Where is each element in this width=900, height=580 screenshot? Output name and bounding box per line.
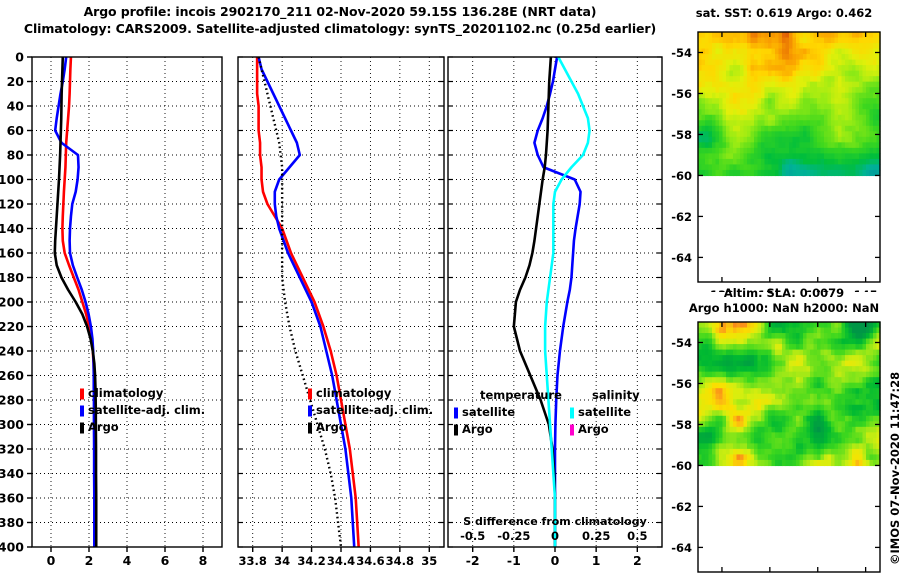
map-cell bbox=[873, 361, 877, 367]
map-cell bbox=[737, 454, 741, 460]
map-cell bbox=[817, 131, 821, 137]
map-cell bbox=[838, 361, 842, 367]
map-cell bbox=[814, 361, 818, 367]
map-cell bbox=[838, 432, 842, 438]
map-cell bbox=[828, 87, 832, 93]
map-cell bbox=[789, 460, 793, 466]
map-cell bbox=[845, 460, 849, 466]
map-cell bbox=[870, 383, 874, 389]
map-cell bbox=[730, 350, 734, 356]
map-cell bbox=[754, 372, 758, 378]
map-cell bbox=[838, 43, 842, 49]
map-cell bbox=[870, 120, 874, 126]
map-cell bbox=[712, 93, 716, 99]
map-cell bbox=[810, 164, 814, 170]
map-cell bbox=[803, 328, 807, 334]
map-cell bbox=[712, 443, 716, 449]
map-cell bbox=[831, 71, 835, 77]
map-cell bbox=[859, 71, 863, 77]
map-cell bbox=[842, 115, 846, 121]
map-cell bbox=[863, 104, 867, 110]
map-cell bbox=[859, 383, 863, 389]
map-cell bbox=[779, 115, 783, 121]
map-cell bbox=[849, 366, 853, 372]
map-cell bbox=[740, 333, 744, 339]
map-cell bbox=[709, 454, 713, 460]
map-cell bbox=[740, 137, 744, 143]
map-cell bbox=[754, 49, 758, 55]
map-cell bbox=[726, 432, 730, 438]
legend-label: Argo bbox=[462, 422, 493, 436]
xtick-label: 4 bbox=[123, 553, 132, 568]
map-cell bbox=[810, 344, 814, 350]
map-cell bbox=[765, 164, 769, 170]
map-cell bbox=[828, 126, 832, 132]
map-cell bbox=[772, 454, 776, 460]
map-cell bbox=[856, 98, 860, 104]
map-cell bbox=[828, 104, 832, 110]
map-cell bbox=[747, 137, 751, 143]
map-cell bbox=[856, 421, 860, 427]
map-cell bbox=[873, 60, 877, 66]
map-cell bbox=[782, 344, 786, 350]
map-cell bbox=[824, 115, 828, 121]
map-cell bbox=[754, 170, 758, 176]
map-cell bbox=[733, 131, 737, 137]
map-cell bbox=[772, 131, 776, 137]
map-cell bbox=[810, 43, 814, 49]
map-cell bbox=[793, 49, 797, 55]
map-cell bbox=[835, 416, 839, 422]
map-cell bbox=[824, 460, 828, 466]
map-cell bbox=[716, 377, 720, 383]
map-cell bbox=[716, 159, 720, 165]
map-cell bbox=[705, 383, 709, 389]
map-cell bbox=[852, 322, 856, 328]
map-cell bbox=[772, 38, 776, 44]
map-cell bbox=[702, 350, 706, 356]
map-cell bbox=[726, 148, 730, 154]
map-cell bbox=[873, 377, 877, 383]
map-cell bbox=[866, 38, 870, 44]
map-cell bbox=[817, 170, 821, 176]
map-cell bbox=[807, 394, 811, 400]
map-cell bbox=[835, 93, 839, 99]
map-cell bbox=[838, 427, 842, 433]
map-cell bbox=[705, 98, 709, 104]
map-cell bbox=[810, 394, 814, 400]
map-cell bbox=[772, 410, 776, 416]
map-cell bbox=[817, 49, 821, 55]
map-cell bbox=[814, 71, 818, 77]
map-cell bbox=[744, 339, 748, 345]
map-cell bbox=[845, 126, 849, 132]
map-cell bbox=[793, 388, 797, 394]
map-cell bbox=[845, 438, 849, 444]
map-cell bbox=[814, 405, 818, 411]
map-cell bbox=[800, 115, 804, 121]
map-cell bbox=[821, 432, 825, 438]
map-cell bbox=[803, 438, 807, 444]
map-cell bbox=[789, 137, 793, 143]
map-cell bbox=[835, 142, 839, 148]
map-cell bbox=[768, 87, 772, 93]
map-cell bbox=[772, 339, 776, 345]
map-cell bbox=[702, 87, 706, 93]
map-cell bbox=[845, 372, 849, 378]
map-cell bbox=[779, 449, 783, 455]
map-cell bbox=[712, 339, 716, 345]
map-cell bbox=[835, 76, 839, 82]
map-cell bbox=[709, 443, 713, 449]
map-cell bbox=[761, 344, 765, 350]
map-cell bbox=[831, 126, 835, 132]
map-cell bbox=[821, 54, 825, 60]
map-cell bbox=[835, 372, 839, 378]
map-cell bbox=[702, 333, 706, 339]
map-cell bbox=[723, 410, 727, 416]
map-cell bbox=[793, 383, 797, 389]
map-cell bbox=[821, 87, 825, 93]
map-cell bbox=[702, 98, 706, 104]
map-cell bbox=[856, 350, 860, 356]
map-cell bbox=[821, 416, 825, 422]
map-cell bbox=[828, 399, 832, 405]
map-cell bbox=[786, 153, 790, 159]
map-cell bbox=[849, 76, 853, 82]
map-cell bbox=[828, 120, 832, 126]
map-cell bbox=[803, 126, 807, 132]
map-cell bbox=[831, 49, 835, 55]
map-cell bbox=[765, 76, 769, 82]
map-cell bbox=[779, 333, 783, 339]
map-cell bbox=[849, 170, 853, 176]
map-cell bbox=[873, 164, 877, 170]
map-cell bbox=[786, 115, 790, 121]
map-cell bbox=[744, 159, 748, 165]
map-cell bbox=[810, 454, 814, 460]
map-cell bbox=[733, 438, 737, 444]
map-cell bbox=[845, 120, 849, 126]
map-cell bbox=[775, 454, 779, 460]
map-cell bbox=[842, 131, 846, 137]
map-ytick-label: -54 bbox=[671, 46, 692, 60]
map-cell bbox=[712, 164, 716, 170]
map-cell bbox=[765, 322, 769, 328]
map-cell bbox=[810, 350, 814, 356]
map-cell bbox=[782, 427, 786, 433]
map-cell bbox=[845, 366, 849, 372]
map-cell bbox=[817, 38, 821, 44]
map-cell bbox=[712, 410, 716, 416]
map-cell bbox=[852, 32, 856, 38]
map-cell bbox=[716, 153, 720, 159]
map-cell bbox=[849, 372, 853, 378]
map-cell bbox=[733, 49, 737, 55]
map-cell bbox=[831, 410, 835, 416]
map-cell bbox=[793, 460, 797, 466]
ytick-label: 380 bbox=[0, 515, 24, 530]
map-cell bbox=[730, 432, 734, 438]
map-cell bbox=[817, 421, 821, 427]
map-cell bbox=[733, 38, 737, 44]
map-cell bbox=[744, 93, 748, 99]
map-cell bbox=[733, 410, 737, 416]
map-cell bbox=[726, 109, 730, 115]
map-cell bbox=[863, 170, 867, 176]
map-cell bbox=[716, 76, 720, 82]
map-cell bbox=[782, 76, 786, 82]
map-cell bbox=[796, 38, 800, 44]
map-cell bbox=[744, 388, 748, 394]
map-cell bbox=[772, 350, 776, 356]
map-cell bbox=[761, 366, 765, 372]
map-cell bbox=[807, 355, 811, 361]
map-cell bbox=[859, 361, 863, 367]
map-cell bbox=[747, 372, 751, 378]
map-cell bbox=[859, 38, 863, 44]
map-cell bbox=[775, 170, 779, 176]
map-cell bbox=[702, 339, 706, 345]
map-cell bbox=[772, 137, 776, 143]
map-cell bbox=[761, 126, 765, 132]
map-cell bbox=[719, 43, 723, 49]
map-cell bbox=[835, 170, 839, 176]
map-cell bbox=[740, 399, 744, 405]
map-cell bbox=[849, 32, 853, 38]
map-cell bbox=[733, 142, 737, 148]
map-cell bbox=[831, 137, 835, 143]
map-cell bbox=[838, 366, 842, 372]
map-cell bbox=[859, 322, 863, 328]
map-cell bbox=[849, 355, 853, 361]
map-cell bbox=[870, 366, 874, 372]
map-cell bbox=[845, 350, 849, 356]
map-cell bbox=[779, 328, 783, 334]
map-cell bbox=[740, 120, 744, 126]
map-cell bbox=[772, 65, 776, 71]
map-cell bbox=[814, 148, 818, 154]
map-cell bbox=[786, 71, 790, 77]
map-cell bbox=[803, 43, 807, 49]
xtick-label: -2 bbox=[466, 553, 480, 568]
map-cell bbox=[800, 137, 804, 143]
map-cell bbox=[761, 394, 765, 400]
map-cell bbox=[775, 76, 779, 82]
map-cell bbox=[754, 399, 758, 405]
map-cell bbox=[866, 460, 870, 466]
map-cell bbox=[793, 344, 797, 350]
map-cell bbox=[793, 399, 797, 405]
map-cell bbox=[712, 38, 716, 44]
map-cell bbox=[719, 54, 723, 60]
map-cell bbox=[796, 427, 800, 433]
map-cell bbox=[747, 449, 751, 455]
map-cell bbox=[838, 383, 842, 389]
map-cell bbox=[705, 65, 709, 71]
map-cell bbox=[803, 460, 807, 466]
xtick-label: 34.4 bbox=[327, 554, 355, 568]
map-cell bbox=[814, 388, 818, 394]
map-cell bbox=[810, 38, 814, 44]
map-cell bbox=[786, 372, 790, 378]
legend-header-salinity: salinity bbox=[592, 388, 640, 402]
map-cell bbox=[765, 443, 769, 449]
map-cell bbox=[852, 432, 856, 438]
map-cell bbox=[751, 383, 755, 389]
map-cell bbox=[789, 115, 793, 121]
map-cell bbox=[758, 328, 762, 334]
map-cell bbox=[775, 71, 779, 77]
map-cell bbox=[845, 49, 849, 55]
map-cell bbox=[768, 388, 772, 394]
map-cell bbox=[870, 153, 874, 159]
map-cell bbox=[740, 76, 744, 82]
map-cell bbox=[744, 87, 748, 93]
map-cell bbox=[712, 137, 716, 143]
map-cell bbox=[817, 460, 821, 466]
map-cell bbox=[761, 454, 765, 460]
map-cell bbox=[751, 333, 755, 339]
map-cell bbox=[863, 350, 867, 356]
map-cell bbox=[751, 159, 755, 165]
map-cell bbox=[782, 339, 786, 345]
map-cell bbox=[758, 170, 762, 176]
map-cell bbox=[859, 333, 863, 339]
map-cell bbox=[744, 355, 748, 361]
map-cell bbox=[828, 93, 832, 99]
map-cell bbox=[733, 120, 737, 126]
map-cell bbox=[730, 126, 734, 132]
map-cell bbox=[838, 416, 842, 422]
map-cell bbox=[782, 432, 786, 438]
map-cell bbox=[796, 76, 800, 82]
map-cell bbox=[779, 60, 783, 66]
map-cell bbox=[740, 460, 744, 466]
map-cell bbox=[859, 344, 863, 350]
map-cell bbox=[870, 328, 874, 334]
map-cell bbox=[758, 104, 762, 110]
map-cell bbox=[870, 344, 874, 350]
map-cell bbox=[747, 87, 751, 93]
map-cell bbox=[779, 454, 783, 460]
map-cell bbox=[814, 438, 818, 444]
map-cell bbox=[842, 383, 846, 389]
map-cell bbox=[849, 361, 853, 367]
map-cell bbox=[803, 421, 807, 427]
map-cell bbox=[705, 109, 709, 115]
map-cell bbox=[744, 71, 748, 77]
map-cell bbox=[828, 49, 832, 55]
map-cell bbox=[863, 49, 867, 55]
map-cell bbox=[733, 164, 737, 170]
map-cell bbox=[866, 355, 870, 361]
map-cell bbox=[758, 164, 762, 170]
map-cell bbox=[835, 49, 839, 55]
map-cell bbox=[758, 388, 762, 394]
map-cell bbox=[782, 126, 786, 132]
map-cell bbox=[870, 104, 874, 110]
map-cell bbox=[719, 344, 723, 350]
map-cell bbox=[835, 104, 839, 110]
map-cell bbox=[768, 71, 772, 77]
map-cell bbox=[859, 377, 863, 383]
map-cell bbox=[842, 410, 846, 416]
map-cell bbox=[849, 328, 853, 334]
map-cell bbox=[842, 98, 846, 104]
map-cell bbox=[824, 65, 828, 71]
map-cell bbox=[870, 350, 874, 356]
ytick-label: 220 bbox=[0, 319, 24, 334]
map-cell bbox=[786, 43, 790, 49]
map-cell bbox=[723, 109, 727, 115]
map-cell bbox=[824, 131, 828, 137]
map-cell bbox=[744, 460, 748, 466]
map-cell bbox=[873, 43, 877, 49]
map-cell bbox=[817, 148, 821, 154]
map-cell bbox=[803, 366, 807, 372]
map-cell bbox=[733, 372, 737, 378]
map-cell bbox=[800, 399, 804, 405]
map-cell bbox=[712, 115, 716, 121]
map-cell bbox=[814, 372, 818, 378]
map-cell bbox=[754, 410, 758, 416]
map-cell bbox=[719, 454, 723, 460]
ytick-label: 100 bbox=[0, 172, 24, 187]
legend-swatch bbox=[454, 408, 458, 419]
map-cell bbox=[810, 32, 814, 38]
map-cell bbox=[842, 148, 846, 154]
map-cell bbox=[758, 98, 762, 104]
map-cell bbox=[856, 355, 860, 361]
map-cell bbox=[716, 394, 720, 400]
map-cell bbox=[709, 388, 713, 394]
map-cell bbox=[730, 377, 734, 383]
map-cell bbox=[849, 421, 853, 427]
map-cell bbox=[828, 131, 832, 137]
map-cell bbox=[754, 416, 758, 422]
map-cell bbox=[772, 427, 776, 433]
map-cell bbox=[852, 170, 856, 176]
map-cell bbox=[733, 454, 737, 460]
map-cell bbox=[730, 142, 734, 148]
map-cell bbox=[709, 432, 713, 438]
map-cell bbox=[782, 322, 786, 328]
map-cell bbox=[831, 153, 835, 159]
map-cell bbox=[828, 322, 832, 328]
map-cell bbox=[821, 164, 825, 170]
map-cell bbox=[835, 454, 839, 460]
map-cell bbox=[719, 377, 723, 383]
map-cell bbox=[873, 98, 877, 104]
map-cell bbox=[716, 344, 720, 350]
map-cell bbox=[835, 350, 839, 356]
map-cell bbox=[747, 388, 751, 394]
map-cell bbox=[712, 394, 716, 400]
map-cell bbox=[747, 421, 751, 427]
map-cell bbox=[810, 355, 814, 361]
map-cell bbox=[800, 388, 804, 394]
map-cell bbox=[765, 421, 769, 427]
map-cell bbox=[765, 54, 769, 60]
map-cell bbox=[768, 355, 772, 361]
map-cell bbox=[712, 120, 716, 126]
map-cell bbox=[765, 366, 769, 372]
map-cell bbox=[866, 71, 870, 77]
map-cell bbox=[772, 328, 776, 334]
map-cell bbox=[817, 388, 821, 394]
map-cell bbox=[733, 104, 737, 110]
